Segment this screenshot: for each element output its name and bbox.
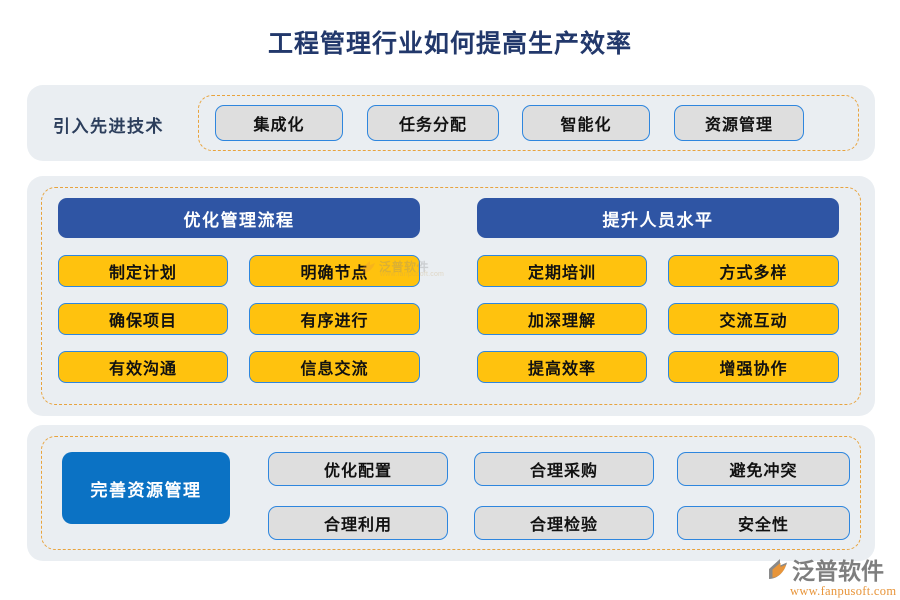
button-process-2[interactable]: 明确节点 bbox=[249, 255, 420, 287]
button-process-3[interactable]: 确保项目 bbox=[58, 303, 228, 335]
pill-resource-1[interactable]: 优化配置 bbox=[268, 452, 448, 486]
button-people-1[interactable]: 定期培训 bbox=[477, 255, 647, 287]
pill-resource-2[interactable]: 合理采购 bbox=[474, 452, 654, 486]
pill-resource-5[interactable]: 合理检验 bbox=[474, 506, 654, 540]
block-improve-resource-management[interactable]: 完善资源管理 bbox=[62, 452, 230, 524]
pill-technology-3[interactable]: 智能化 bbox=[522, 105, 650, 141]
button-people-4[interactable]: 交流互动 bbox=[668, 303, 839, 335]
pill-resource-3[interactable]: 避免冲突 bbox=[677, 452, 850, 486]
row-label-advanced-technology: 引入先进技术 bbox=[53, 112, 164, 137]
pill-technology-2[interactable]: 任务分配 bbox=[367, 105, 499, 141]
button-people-3[interactable]: 加深理解 bbox=[477, 303, 647, 335]
swoosh-logo-icon bbox=[768, 558, 788, 580]
infographic-canvas: 工程管理行业如何提高生产效率 引入先进技术 集成化 任务分配 智能化 资源管理 … bbox=[0, 0, 900, 600]
pill-technology-1[interactable]: 集成化 bbox=[215, 105, 343, 141]
button-process-6[interactable]: 信息交流 bbox=[249, 351, 420, 383]
button-people-6[interactable]: 增强协作 bbox=[668, 351, 839, 383]
section-header-optimize-process: 优化管理流程 bbox=[58, 198, 420, 238]
button-process-4[interactable]: 有序进行 bbox=[249, 303, 420, 335]
brand-logo-name: 泛普软件 bbox=[792, 552, 884, 586]
pill-technology-4[interactable]: 资源管理 bbox=[674, 105, 804, 141]
pill-resource-6[interactable]: 安全性 bbox=[677, 506, 850, 540]
button-people-2[interactable]: 方式多样 bbox=[668, 255, 839, 287]
brand-logo: 泛普软件 www.fanpusoft.com bbox=[768, 552, 896, 594]
button-people-5[interactable]: 提高效率 bbox=[477, 351, 647, 383]
pill-resource-4[interactable]: 合理利用 bbox=[268, 506, 448, 540]
button-process-1[interactable]: 制定计划 bbox=[58, 255, 228, 287]
brand-logo-url: www.fanpusoft.com bbox=[790, 584, 896, 599]
section-header-improve-people: 提升人员水平 bbox=[477, 198, 839, 238]
page-title: 工程管理行业如何提高生产效率 bbox=[0, 24, 900, 60]
button-process-5[interactable]: 有效沟通 bbox=[58, 351, 228, 383]
